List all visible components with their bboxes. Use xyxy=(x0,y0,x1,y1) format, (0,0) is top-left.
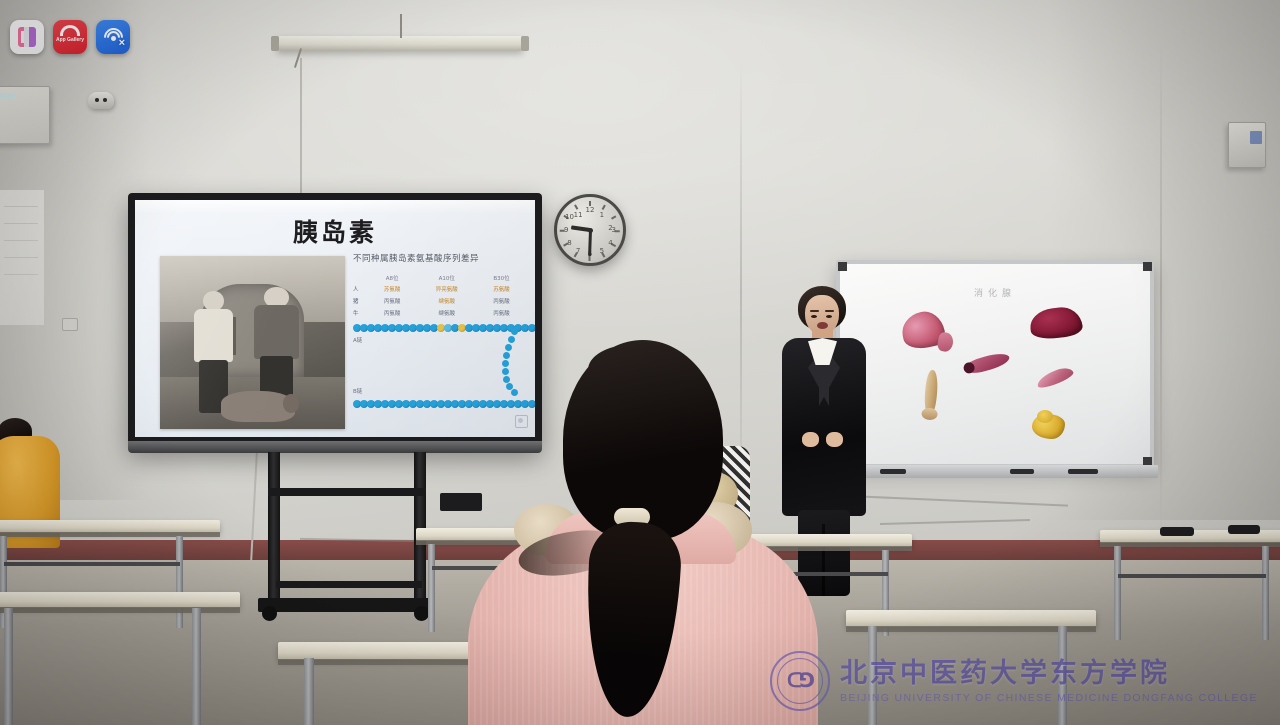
table-col-header: B30位 xyxy=(478,273,525,283)
slide-table: A8位 A10位 B30位 人 苏氨酸 异亮氨酸 苏氨酸 猪 丙氨酸 xyxy=(353,273,525,319)
liver-model xyxy=(1028,305,1083,341)
display-power-cable xyxy=(300,58,302,203)
university-watermark: ᑕ⅁ 北京中医药大学东方学院 BEIJING UNIVERSITY OF CHI… xyxy=(770,645,1270,717)
app-gallery-icon[interactable]: App Gallery xyxy=(53,20,87,54)
stomach-model xyxy=(899,308,948,352)
row-cell: 缬氨酸 xyxy=(416,295,479,307)
clock-center-pin xyxy=(588,228,593,233)
slide-content-panel: 不同种属胰岛素氨基酸序列差异 A8位 A10位 B30位 人 苏氨酸 异亮氨酸 xyxy=(353,252,525,429)
light-suspension-rod xyxy=(400,14,402,38)
display-cart-leg xyxy=(414,452,426,602)
screen-cast-disabled-icon[interactable]: × xyxy=(96,20,130,54)
whiteboard-marker[interactable] xyxy=(880,469,906,474)
watermark-english-name: BEIJING UNIVERSITY OF CHINESE MEDICINE D… xyxy=(840,692,1270,704)
clock-numeral: 3 xyxy=(609,226,619,234)
fat-tissue-model xyxy=(1032,414,1065,439)
clock-minute-hand xyxy=(588,230,592,256)
display-cart-crossbar xyxy=(276,581,422,588)
watermark-chinese-name: 北京中医药大学东方学院 xyxy=(840,659,1270,689)
desk-item xyxy=(1160,527,1194,536)
info-book-icon[interactable] xyxy=(10,20,44,54)
table-row: 猪 丙氨酸 缬氨酸 丙氨酸 xyxy=(353,295,525,307)
row-cell: 缬氨酸 xyxy=(416,307,479,319)
whiteboard-handwriting: 消化腺 xyxy=(840,286,1150,299)
light-end-cap xyxy=(521,36,529,51)
screenshot-root: 12 1 2 3 4 5 6 7 8 9 10 11 胰岛素 xyxy=(0,0,1280,725)
whiteboard-eraser[interactable] xyxy=(1068,469,1098,474)
display-cart-base xyxy=(258,598,430,612)
slide-subtitle: 不同种属胰岛素氨基酸序列差异 xyxy=(353,252,525,264)
display-screen[interactable]: 胰岛素 不同种属胰岛素氨基酸序列差异 xyxy=(135,200,535,437)
row-cell: 苏氨酸 xyxy=(478,283,525,295)
seal-monogram: ᑕ⅁ xyxy=(772,668,828,692)
row-cell: 丙氨酸 xyxy=(369,295,416,307)
clock-numeral: 1 xyxy=(597,211,607,219)
slide-historic-photo xyxy=(160,256,345,429)
row-cell: 丙氨酸 xyxy=(478,295,525,307)
motion-sensor-icon xyxy=(88,92,114,109)
wall-seam xyxy=(1160,40,1162,540)
clock-numeral: 9 xyxy=(561,226,571,234)
display-cart-wheel xyxy=(414,606,429,621)
row-cell: 苏氨酸 xyxy=(369,283,416,295)
teacher-face xyxy=(805,295,839,335)
student-foreground xyxy=(468,480,818,725)
teacher-hand xyxy=(802,432,819,447)
table-row: 人 苏氨酸 异亮氨酸 苏氨酸 xyxy=(353,283,525,295)
display-cart-wheel xyxy=(262,606,277,621)
display-cart-crossbar xyxy=(268,488,426,496)
teacher-hand xyxy=(826,432,843,447)
display-bottom-bezel xyxy=(128,441,542,453)
row-cell: 丙氨酸 xyxy=(369,307,416,319)
table-col-header xyxy=(353,273,369,283)
university-seal-logo: ᑕ⅁ xyxy=(770,651,830,711)
clock-numeral: 12 xyxy=(585,206,595,214)
table-col-header: A10位 xyxy=(416,273,479,283)
clock-numeral: 5 xyxy=(597,247,607,255)
insulin-b-chain-diagram xyxy=(353,400,525,409)
display-cart-leg xyxy=(268,452,280,602)
floating-app-icons[interactable]: App Gallery × xyxy=(10,20,130,54)
cast-disabled-x: × xyxy=(119,38,125,49)
electrical-box xyxy=(0,86,50,144)
colon-model xyxy=(965,350,1011,376)
classroom-display[interactable]: 胰岛素 不同种属胰岛素氨基酸序列差异 xyxy=(128,193,542,449)
slide-title: 胰岛素 xyxy=(135,213,535,249)
row-label: 牛 xyxy=(353,307,369,319)
whiteboard-marker[interactable] xyxy=(1010,469,1034,474)
row-cell: 丙氨酸 xyxy=(478,307,525,319)
table-header-row: A8位 A10位 B30位 xyxy=(353,273,525,283)
row-label: 人 xyxy=(353,283,369,295)
row-label: 猪 xyxy=(353,295,369,307)
desk-item xyxy=(1228,525,1260,534)
app-gallery-label: App Gallery xyxy=(53,37,87,43)
row-cell: 异亮氨酸 xyxy=(416,283,479,295)
clock-numeral: 11 xyxy=(573,211,583,219)
wall-socket xyxy=(62,318,78,331)
clock-numeral: 8 xyxy=(565,239,575,247)
clock-numeral: 4 xyxy=(605,239,615,247)
clock-numeral: 7 xyxy=(573,247,583,255)
light-end-cap xyxy=(271,36,279,51)
chain-b-label: B链 xyxy=(353,387,525,395)
table-col-header: A8位 xyxy=(369,273,416,283)
slide-corner-mark xyxy=(515,415,528,428)
wall-speaker-panel xyxy=(1228,122,1266,168)
pancreas-model xyxy=(1035,365,1075,390)
wall-poster xyxy=(0,190,44,325)
ceiling-light-fixture xyxy=(277,36,523,51)
wall-clock: 12 1 2 3 4 5 6 7 8 9 10 11 xyxy=(554,194,626,266)
whiteboard: 消化腺 xyxy=(836,260,1154,468)
bone-model xyxy=(923,370,938,418)
presentation-slide: 胰岛素 不同种属胰岛素氨基酸序列差异 xyxy=(135,200,535,437)
table-row: 牛 丙氨酸 缬氨酸 丙氨酸 xyxy=(353,307,525,319)
